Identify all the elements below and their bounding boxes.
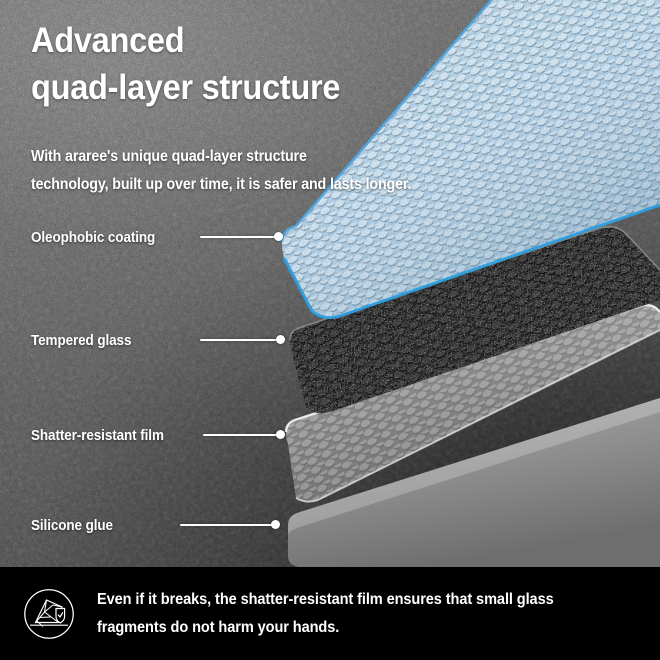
leader-line-icon — [203, 434, 280, 436]
callout-label: Tempered glass — [31, 333, 131, 349]
callout-silicone-glue: Silicone glue — [31, 516, 119, 536]
leader-dot-icon — [271, 520, 280, 529]
leader-line-icon — [200, 339, 280, 341]
callout-label: Oleophobic coating — [31, 230, 155, 246]
callout-label: Silicone glue — [31, 518, 113, 534]
shattered-glass-shield-icon — [23, 588, 75, 640]
callout-label: Shatter-resistant film — [31, 428, 164, 444]
leader-dot-icon — [276, 335, 285, 344]
leader-line-icon — [180, 524, 275, 526]
infographic-root: Advanced quad-layer structure With arare… — [0, 0, 660, 660]
leader-dot-icon — [274, 232, 283, 241]
callout-shatter-resistant-film: Shatter-resistant film — [31, 426, 174, 446]
leader-dot-icon — [276, 430, 285, 439]
leader-line-icon — [200, 236, 278, 238]
footer-banner: Even if it breaks, the shatter-resistant… — [0, 567, 660, 660]
callout-tempered-glass: Tempered glass — [31, 331, 139, 351]
page-subtitle: With araree's unique quad-layer structur… — [31, 143, 411, 198]
footer-message: Even if it breaks, the shatter-resistant… — [97, 586, 554, 640]
page-title: Advanced quad-layer structure — [31, 18, 340, 112]
callout-oleophobic-coating: Oleophobic coating — [31, 228, 165, 248]
